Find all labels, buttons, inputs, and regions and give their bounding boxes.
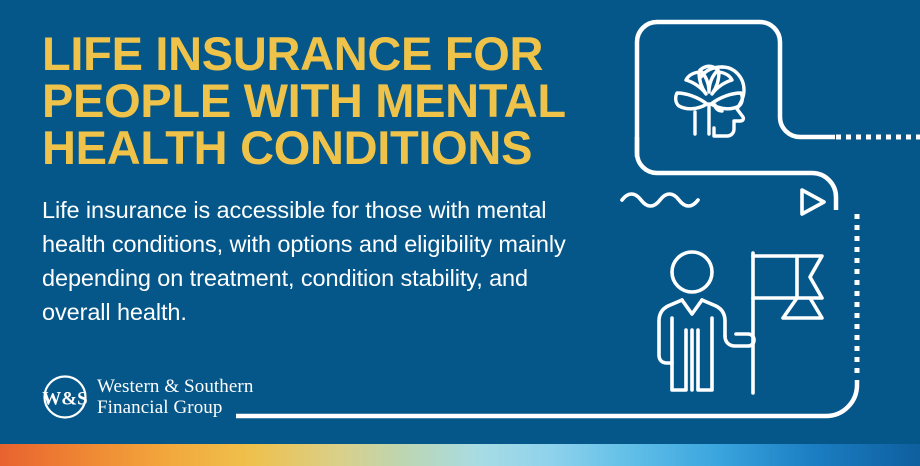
svg-text:W&S: W&S bbox=[42, 389, 87, 410]
brand-gradient-bar bbox=[0, 444, 920, 466]
subheading-text: Life insurance is accessible for those w… bbox=[42, 193, 582, 329]
ws-monogram-icon: W&S bbox=[42, 374, 88, 420]
page-title: LIFE INSURANCE FOR PEOPLE WITH MENTAL HE… bbox=[42, 30, 602, 171]
text-column: LIFE INSURANCE FOR PEOPLE WITH MENTAL HE… bbox=[42, 30, 602, 171]
marketing-banner: LIFE INSURANCE FOR PEOPLE WITH MENTAL HE… bbox=[0, 0, 920, 466]
brand-logo[interactable]: W&S Western & Southern Financial Group bbox=[42, 374, 253, 420]
brand-wordmark: Western & Southern Financial Group bbox=[97, 376, 253, 418]
